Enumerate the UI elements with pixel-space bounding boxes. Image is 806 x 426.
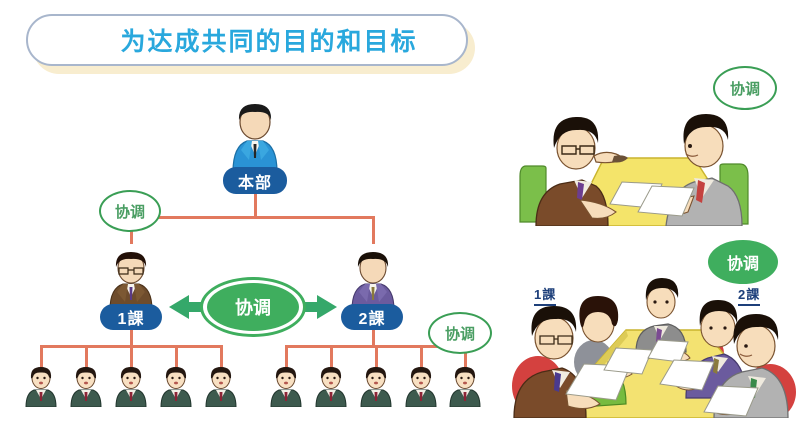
- staff-icon: [69, 365, 103, 407]
- photo-top-callout-label: 协调: [730, 78, 760, 99]
- org-node-div2-figure: [346, 248, 400, 310]
- photo-bottom-callout: 协调: [708, 240, 778, 284]
- staff-icon: [448, 365, 482, 407]
- two-person-meeting-photo: [518, 96, 758, 226]
- callout-div2-staff: 协调: [428, 312, 492, 354]
- photo-bottom-callout-label: 协调: [727, 250, 759, 274]
- org-node-div1-badge[interactable]: 1課: [100, 304, 162, 330]
- page-title: 为达成共同的目的和目标: [120, 22, 417, 58]
- connector-div1-staff-3: [130, 345, 133, 367]
- title-banner: 为达成共同的目的和目标: [26, 14, 468, 66]
- org-node-head-badge[interactable]: 本部: [223, 167, 287, 194]
- connector-divisions-horizontal: [130, 216, 374, 219]
- connector-div1-staff-1: [40, 345, 43, 367]
- callout-div2-staff-label: 协调: [445, 323, 475, 344]
- org-node-div1-label: 1課: [118, 305, 145, 329]
- callout-between-divisions: 协调: [207, 283, 299, 331]
- org-node-head-label: 本部: [238, 169, 272, 193]
- staff-icon: [114, 365, 148, 407]
- photo-top-callout: 协调: [713, 66, 777, 110]
- connector-div2-staff-2: [330, 345, 333, 367]
- callout-between-divisions-label: 协调: [235, 294, 271, 320]
- org-node-div1-figure: [104, 248, 158, 310]
- connector-div2-staff-3: [375, 345, 378, 367]
- staff-icon: [24, 365, 58, 407]
- photo-label-div2: 2課: [738, 284, 760, 306]
- connector-div1-staff-2: [85, 345, 88, 367]
- callout-head-to-divisions-label: 协调: [115, 201, 145, 222]
- connector-div2-staff-1: [285, 345, 288, 367]
- staff-icon: [159, 365, 193, 407]
- connector-div2-staff-4: [420, 345, 423, 367]
- staff-icon: [359, 365, 393, 407]
- staff-icon: [314, 365, 348, 407]
- staff-icon: [269, 365, 303, 407]
- connector-div1-staff-5: [220, 345, 223, 367]
- callout-head-to-divisions: 协调: [99, 190, 161, 232]
- org-node-head-figure: [225, 100, 285, 172]
- staff-icon: [404, 365, 438, 407]
- photo-label-div1: 1課: [534, 284, 556, 306]
- connector-div1-staff-4: [175, 345, 178, 367]
- org-node-div2-label: 2課: [359, 305, 386, 329]
- slide-canvas: 为达成共同的目的和目标 本部 协调: [0, 0, 806, 426]
- staff-icon: [204, 365, 238, 407]
- connector-to-div2: [372, 216, 375, 244]
- org-node-div2-badge[interactable]: 2課: [341, 304, 403, 330]
